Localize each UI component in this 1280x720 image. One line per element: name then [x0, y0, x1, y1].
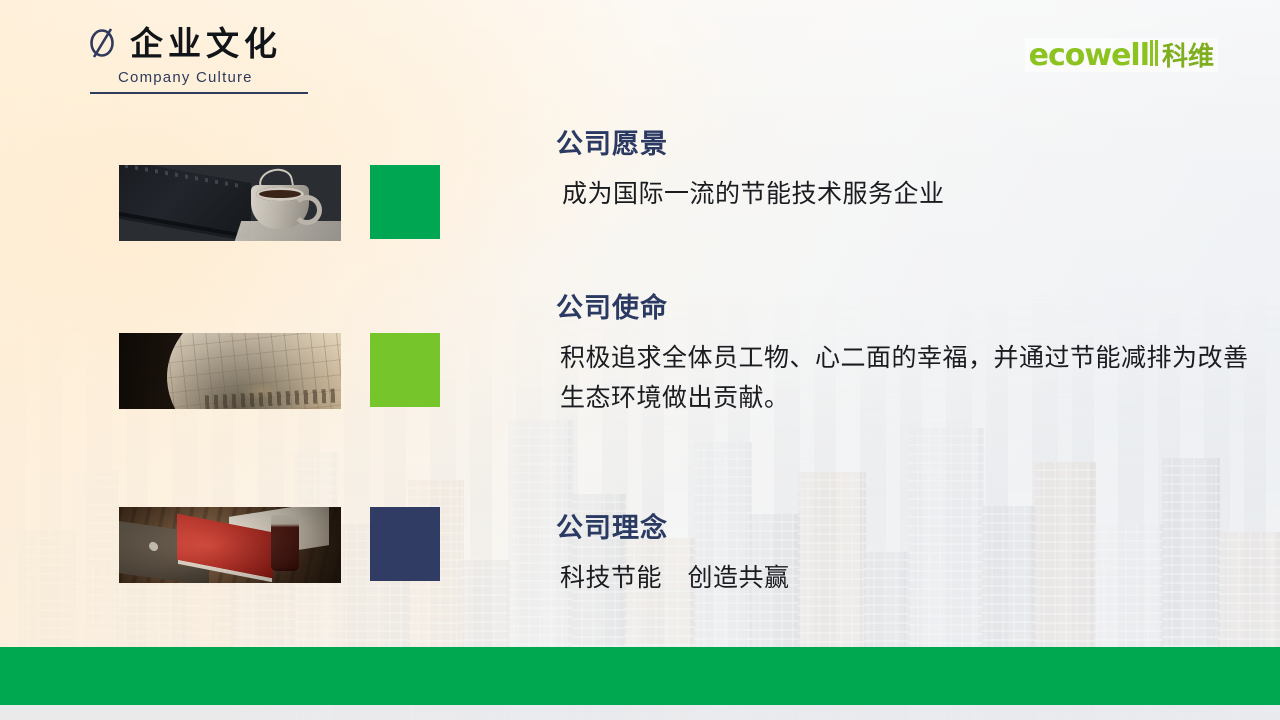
title-row: 企业文化 [88, 26, 348, 60]
title-cn-text: 企业文化 [130, 27, 282, 60]
footer-bottom-strip [0, 705, 1280, 720]
page-title: 企业文化 Company Culture [88, 26, 348, 94]
photo-detail-vignette [119, 507, 341, 583]
brand-logo: ecowell 科维 [1025, 38, 1218, 72]
green-swatch [370, 165, 440, 239]
brand-logo-cn: 科维 [1162, 43, 1214, 69]
brand-logo-bars-icon [1150, 40, 1159, 66]
content-block-vision: 公司愿景 成为国际一流的节能技术服务企业 [556, 130, 945, 214]
notebook-and-coffee-photo [119, 165, 341, 241]
slide-canvas: 企业文化 Company Culture ecowell 科维 [0, 0, 1280, 720]
content-block-mission: 公司使命 积极追求全体员工物、心二面的幸福，并通过节能减排为改善生态环境做出贡献… [556, 294, 1250, 419]
media-row [119, 165, 440, 241]
navy-swatch [370, 507, 440, 581]
title-en-text: Company Culture [118, 69, 348, 86]
content-block-philosophy: 公司理念 科技节能 创造共赢 [556, 514, 790, 598]
block-body: 积极追求全体员工物、心二面的幸福，并通过节能减排为改善生态环境做出贡献。 [560, 338, 1250, 419]
globe-map-photo [119, 333, 341, 409]
title-underline [90, 92, 308, 94]
block-body: 成为国际一流的节能技术服务企业 [562, 174, 945, 215]
block-heading: 公司愿景 [556, 130, 945, 160]
circle-slash-icon [88, 26, 118, 60]
block-body: 科技节能 创造共赢 [560, 558, 790, 599]
desk-laptop-notebook-photo [119, 507, 341, 583]
lime-swatch [370, 333, 440, 407]
block-heading: 公司使命 [556, 294, 1250, 324]
photo-detail-notebook [119, 165, 251, 235]
media-row [119, 333, 440, 409]
brand-logo-latin: ecowell [1029, 41, 1149, 71]
photo-detail-cup [251, 185, 309, 229]
footer-green-bar [0, 647, 1280, 705]
block-heading: 公司理念 [556, 514, 790, 544]
media-row [119, 507, 440, 583]
